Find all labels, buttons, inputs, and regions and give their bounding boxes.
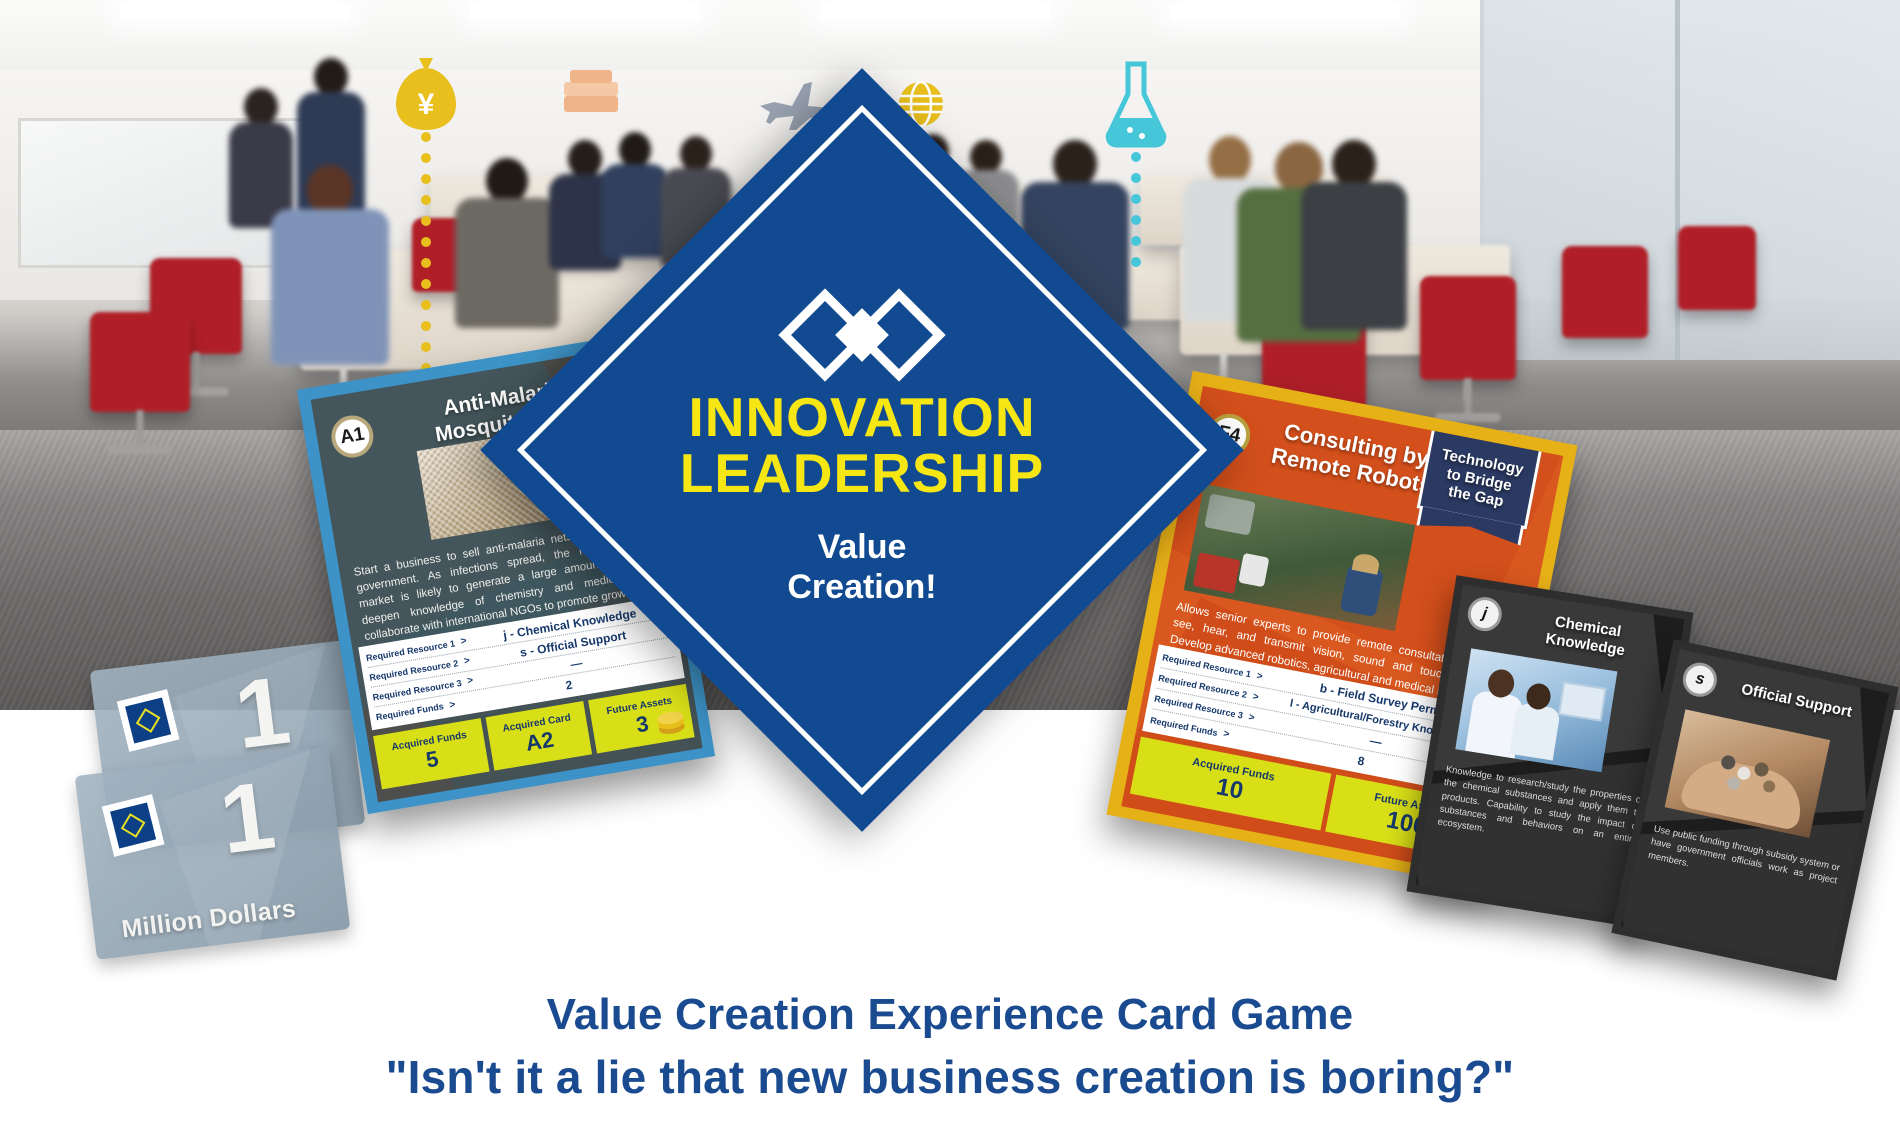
dot-stream: [1131, 152, 1141, 278]
card-title: Official Support: [1715, 676, 1877, 728]
row-operator: >: [449, 699, 457, 711]
card-code-badge: A1: [328, 412, 376, 460]
stacked-cash-icon: [560, 68, 622, 123]
chair: [1562, 246, 1648, 338]
tagline-line1: Value: [787, 527, 936, 567]
diamond-seal-icon: [117, 689, 180, 752]
card-code-badge: j: [1465, 595, 1504, 634]
dot-stream: [421, 132, 431, 384]
reward-value: A2: [524, 726, 556, 756]
row-operator: >: [466, 675, 474, 687]
flask-icon: [1100, 60, 1172, 155]
participant: [1300, 140, 1408, 330]
diamond-seal-icon: [102, 794, 165, 857]
chair: [1420, 276, 1516, 380]
innovation-leadership-logo: INNOVATION LEADERSHIP Value Creation!: [592, 180, 1132, 720]
brand-line1: INNOVATION: [680, 389, 1045, 445]
row-operator: >: [463, 655, 471, 667]
card-description: Use public funding through subsidy syste…: [1647, 822, 1841, 901]
laboratory-researchers-photo: [1455, 648, 1617, 772]
tagline-line2: Creation!: [787, 567, 936, 607]
participant: [455, 158, 559, 328]
money-token[interactable]: 1 Million Dollars: [75, 745, 351, 960]
card-code-badge: s: [1680, 660, 1720, 700]
brand-line2: LEADERSHIP: [680, 445, 1045, 501]
theme-ribbon: Technology to Bridge the Gap: [1417, 427, 1543, 530]
svg-text:¥: ¥: [418, 88, 435, 121]
row-operator: >: [1222, 728, 1230, 740]
participant: [270, 165, 390, 365]
card-title-line1: Official Support: [1715, 676, 1877, 728]
reward-value: 10: [1214, 773, 1246, 806]
money-amount: 1: [214, 761, 280, 877]
reward-box: Acquired Funds 5: [373, 718, 489, 789]
chair: [1678, 226, 1756, 310]
row-operator: >: [460, 636, 468, 648]
double-diamond-logo-icon: [786, 293, 938, 377]
logo-content: INNOVATION LEADERSHIP Value Creation!: [592, 180, 1132, 720]
caption-line1: Value Creation Experience Card Game: [0, 990, 1900, 1040]
promo-banner: ¥ 1: [0, 0, 1900, 1123]
reward-value: 5: [424, 745, 440, 773]
money-bag-icon: ¥: [393, 56, 459, 135]
row-operator: >: [1252, 691, 1260, 703]
caption-line2: "Isn't it a lie that new business creati…: [0, 1050, 1900, 1104]
brand-tagline: Value Creation!: [787, 527, 936, 607]
hands-holding-coins-photo: [1665, 709, 1831, 838]
row-operator: >: [1248, 711, 1256, 723]
chair: [90, 312, 190, 412]
promo-caption: Value Creation Experience Card Game "Isn…: [0, 990, 1900, 1104]
brand-name: INNOVATION LEADERSHIP: [680, 389, 1045, 501]
reward-box: Acquired Card A2: [485, 701, 592, 771]
card-description: Knowledge to research/study the properti…: [1437, 762, 1645, 859]
money-unit: Million Dollars: [120, 894, 298, 944]
row-operator: >: [1256, 670, 1264, 682]
